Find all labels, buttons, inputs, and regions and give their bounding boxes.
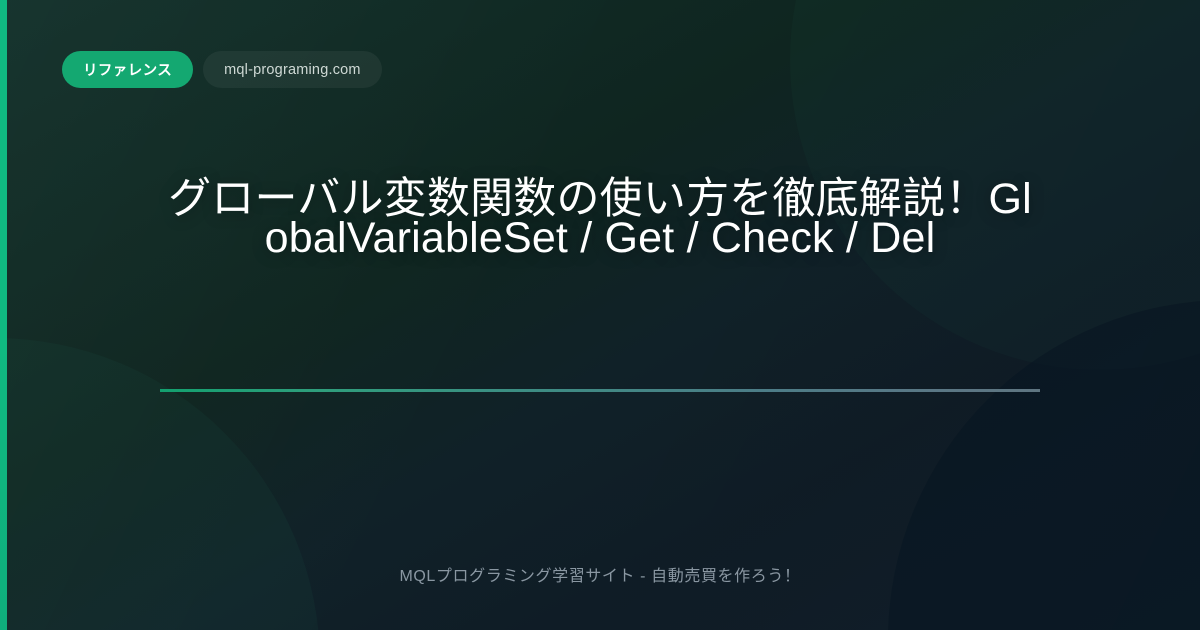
badge-row: リファレンス mql-programing.com	[62, 51, 382, 88]
title-divider	[160, 389, 1040, 392]
og-image-card: リファレンス mql-programing.com グローバル変数関数の使い方を…	[0, 0, 1200, 630]
left-accent-stripe	[0, 0, 7, 630]
page-title: グローバル変数関数の使い方を徹底解説！GlobalVariableSet / G…	[162, 180, 1038, 258]
site-tagline: MQLプログラミング学習サイト - 自動売買を作ろう！	[0, 562, 1200, 586]
category-badge[interactable]: リファレンス	[62, 51, 193, 88]
site-domain-badge[interactable]: mql-programing.com	[203, 51, 382, 88]
decorative-circle-bottom-left	[0, 338, 320, 630]
